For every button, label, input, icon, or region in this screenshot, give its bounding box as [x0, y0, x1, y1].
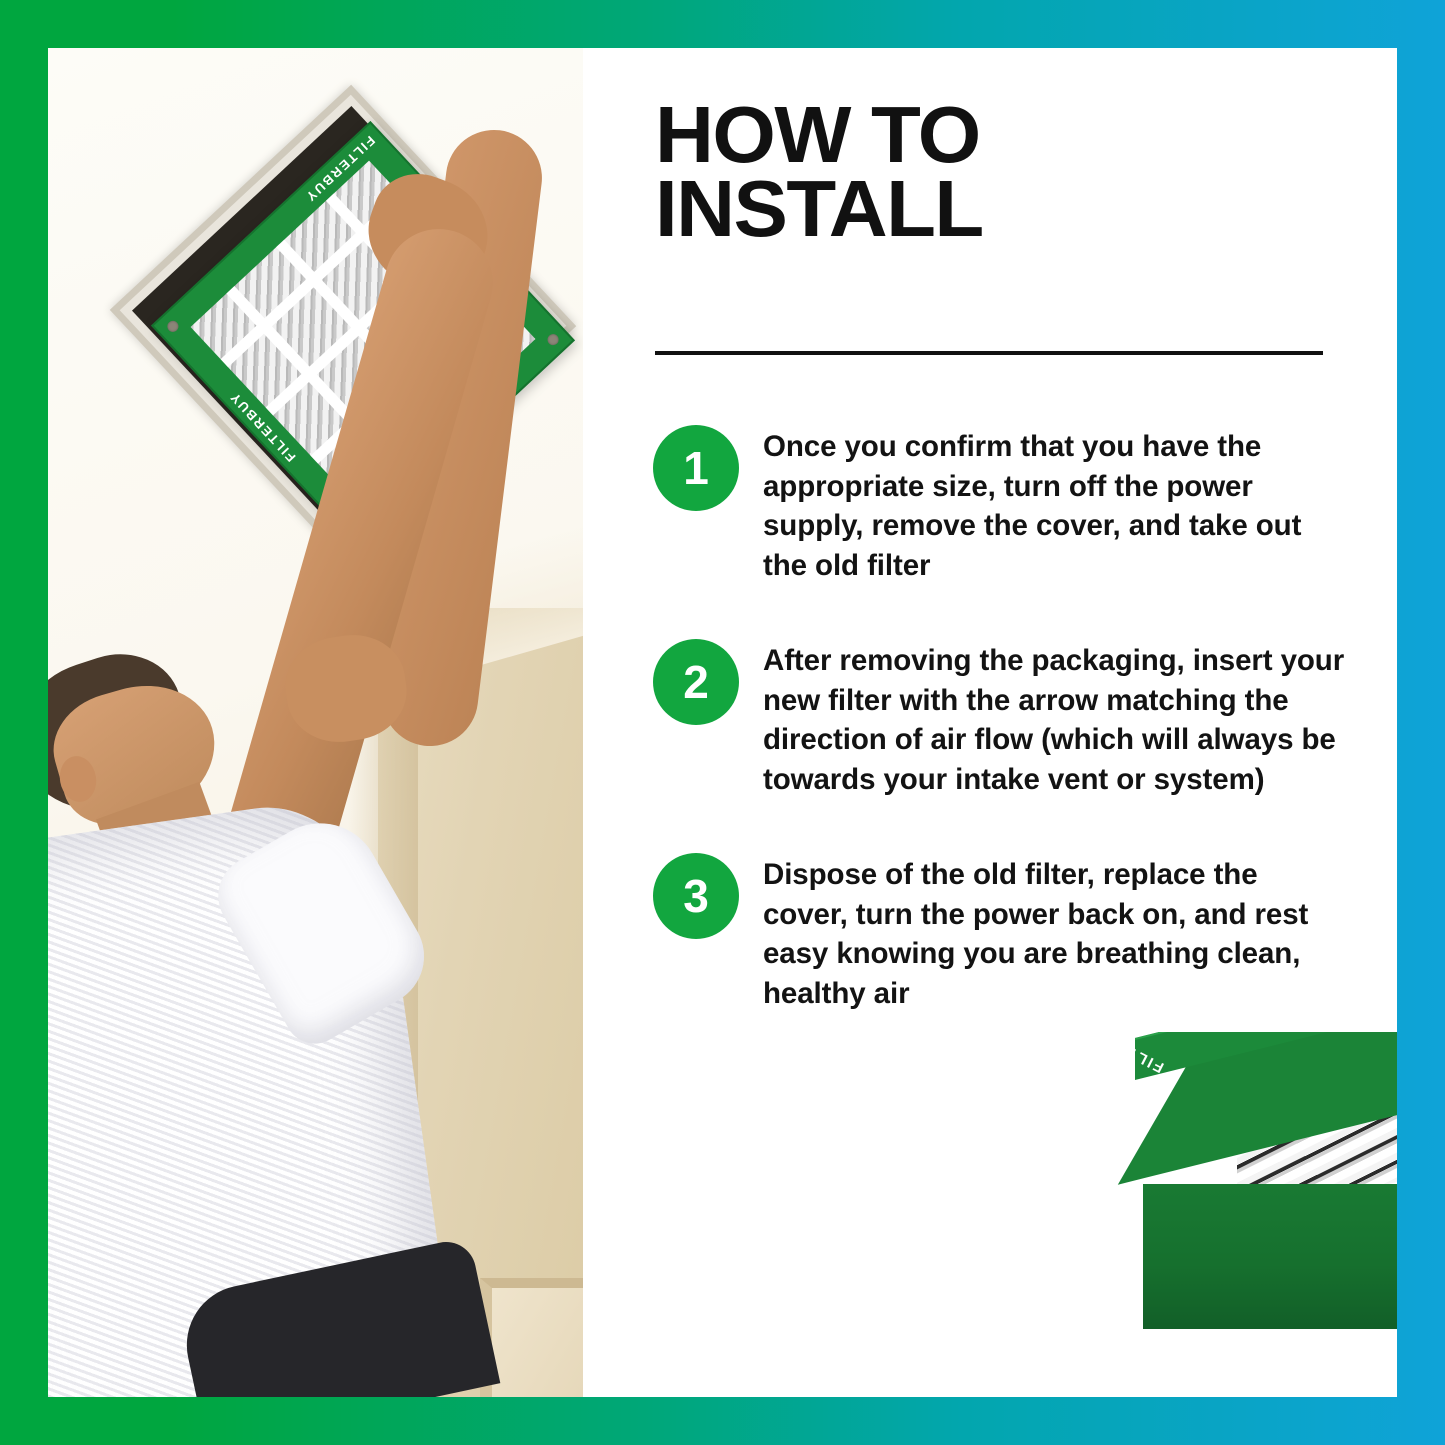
gradient-border-frame: FILTERBUY FILTERBUY — [0, 0, 1445, 1445]
steps-list: 1 Once you confirm that you have the app… — [653, 423, 1373, 1065]
title-divider-rule — [655, 351, 1323, 355]
product-filter-photo: FILTERBUY AIR FLOW — [1117, 1032, 1397, 1350]
list-item: 3 Dispose of the old filter, replace the… — [653, 851, 1373, 1013]
page-title-line-2: INSTALL — [655, 172, 1369, 246]
list-item: 1 Once you confirm that you have the app… — [653, 423, 1373, 585]
page-title: HOW TO INSTALL — [655, 98, 1369, 245]
page-title-line-1: HOW TO — [655, 98, 1369, 172]
list-item: 2 After removing the packaging, insert y… — [653, 637, 1373, 799]
step-number-badge: 2 — [653, 639, 739, 725]
step-description: Dispose of the old filter, replace the c… — [763, 851, 1345, 1013]
step-description: Once you confirm that you have the appro… — [763, 423, 1345, 585]
install-photo: FILTERBUY FILTERBUY — [48, 48, 583, 1397]
vent-screw — [165, 319, 181, 335]
infographic-canvas: FILTERBUY FILTERBUY — [48, 48, 1397, 1397]
step-number-badge: 1 — [653, 425, 739, 511]
step-number-badge: 3 — [653, 853, 739, 939]
product-front-face: AIR FLOW — [1143, 1184, 1397, 1329]
step-description: After removing the packaging, insert you… — [763, 637, 1345, 799]
person-installing-filter — [48, 648, 458, 1397]
vent-screw — [545, 332, 561, 348]
